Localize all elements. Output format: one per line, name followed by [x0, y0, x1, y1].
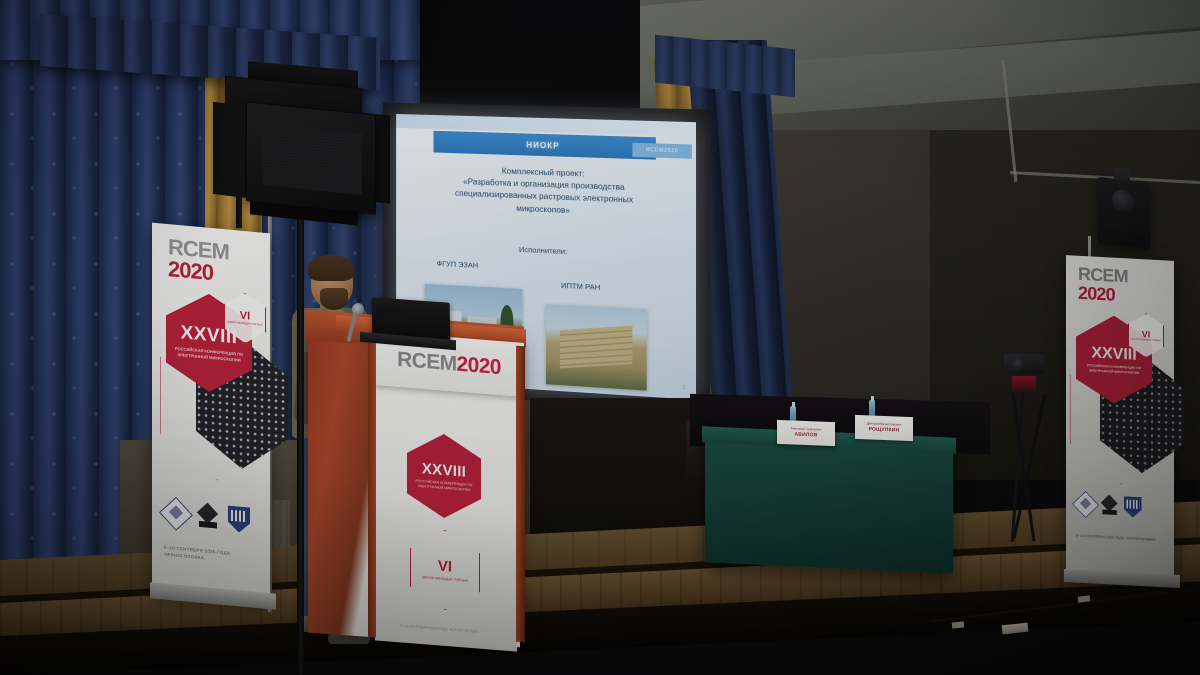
- microphone-head-icon: [352, 303, 364, 316]
- camera-lens-icon: [1012, 358, 1025, 371]
- podium-sign-year: 2020: [457, 353, 501, 380]
- podium-sign-brand: RCEM: [397, 348, 456, 376]
- slide-header-title: НИОКР: [526, 140, 559, 150]
- power-outlet-box: [1002, 623, 1029, 635]
- cable-clip-2: [952, 621, 965, 628]
- podium-banner-roman-2: VI: [438, 558, 452, 576]
- wall-speaker: [1098, 177, 1150, 249]
- banner-left-subtitle: РОССИЙСКАЯ КОНФЕРЕНЦИЯ ПО ЭЛЕКТРОННОЙ МИ…: [166, 345, 252, 364]
- slide-page-number: 2: [683, 385, 686, 391]
- org-logo-cube-icon: [196, 504, 220, 530]
- banner-right-subtitle: РОССИЙСКАЯ КОНФЕРЕНЦИЯ ПО ЭЛЕКТРОННОЙ МИ…: [1076, 363, 1152, 376]
- banner-right-year: 2020: [1078, 283, 1115, 306]
- podium-edge-left: [368, 337, 376, 638]
- name-placard-1: Анатолий Сергеевич АВИЛОВ: [777, 420, 835, 446]
- org-logo-shield-icon: [228, 506, 250, 534]
- org-logo-shield-icon-right: [1124, 496, 1142, 518]
- podium-sign-text: RCEM2020: [397, 348, 501, 380]
- presidium-tablecloth: [705, 434, 953, 573]
- org-logo-diamond-icon: [159, 497, 193, 531]
- podium-banner-subtitle-2: ШКОЛА МОЛОДЫХ УЧЁНЫХ: [422, 575, 468, 583]
- placard-1-lastname: АВИЛОВ: [794, 431, 817, 438]
- building-block-shape: [560, 325, 632, 368]
- banner-right-roman: XXVIII: [1091, 345, 1136, 365]
- podium-edge-right: [516, 346, 525, 643]
- podium-banner-subtitle: РОССИЙСКАЯ КОНФЕРЕНЦИЯ ПО ЭЛЕКТРОННОЙ МИ…: [407, 478, 481, 493]
- barn-door-left: [213, 102, 247, 198]
- org-logo-diamond-icon-right: [1072, 491, 1099, 518]
- led-emitter-grid: [262, 123, 362, 196]
- podium-banner-roman: XXVIII: [422, 460, 466, 480]
- banner-left-date-block: 5–10 СЕНТЯБРЯ 2020 ГОДА ЧЕРНОГОЛОВКА: [164, 544, 264, 567]
- banner-right-date: 5–10 СЕНТЯБРЯ 2020 ГОДА ЧЕРНОГОЛОВКА: [1076, 534, 1166, 544]
- podium-front-panel: [375, 382, 517, 651]
- slide-photo-iptm: [546, 304, 646, 390]
- banner-right-subtitle-2: ШКОЛА МОЛОДЫХ УЧЁНЫХ: [1131, 338, 1161, 342]
- conference-photo-scene: НИОКР RCEM2020 Комплексный проект: «Разр…: [0, 0, 1200, 675]
- slide-brand-badge: RCEM2020: [632, 143, 691, 159]
- tripod-head: [1012, 376, 1036, 392]
- placard-2-lastname: РОЩУПКИН: [869, 426, 900, 433]
- banner-right: RCEM 2020 XXVIII РОССИЙСКАЯ КОНФЕРЕНЦИЯ …: [1066, 255, 1174, 583]
- banner-left: RCEM 2020 XXVIII РОССИЙСКАЯ КОНФЕРЕНЦИЯ …: [152, 223, 270, 602]
- banner-left-year: 2020: [168, 256, 213, 286]
- org-logo-cube-icon-right: [1100, 496, 1119, 516]
- name-placard-2: Дмитрий Вячеславович РОЩУПКИН: [855, 415, 913, 441]
- banner-left-subtitle-2: ШКОЛА МОЛОДЫХ УЧЁНЫХ: [227, 321, 262, 328]
- slide-org-right-label: ИПТМ РАН: [561, 281, 600, 292]
- speaker-beard: [320, 288, 348, 310]
- banner-left-logos: [164, 498, 264, 537]
- banner-right-logos: [1076, 494, 1142, 518]
- banner-right-roman-2: VI: [1142, 329, 1151, 339]
- speaker-hair: [308, 255, 354, 281]
